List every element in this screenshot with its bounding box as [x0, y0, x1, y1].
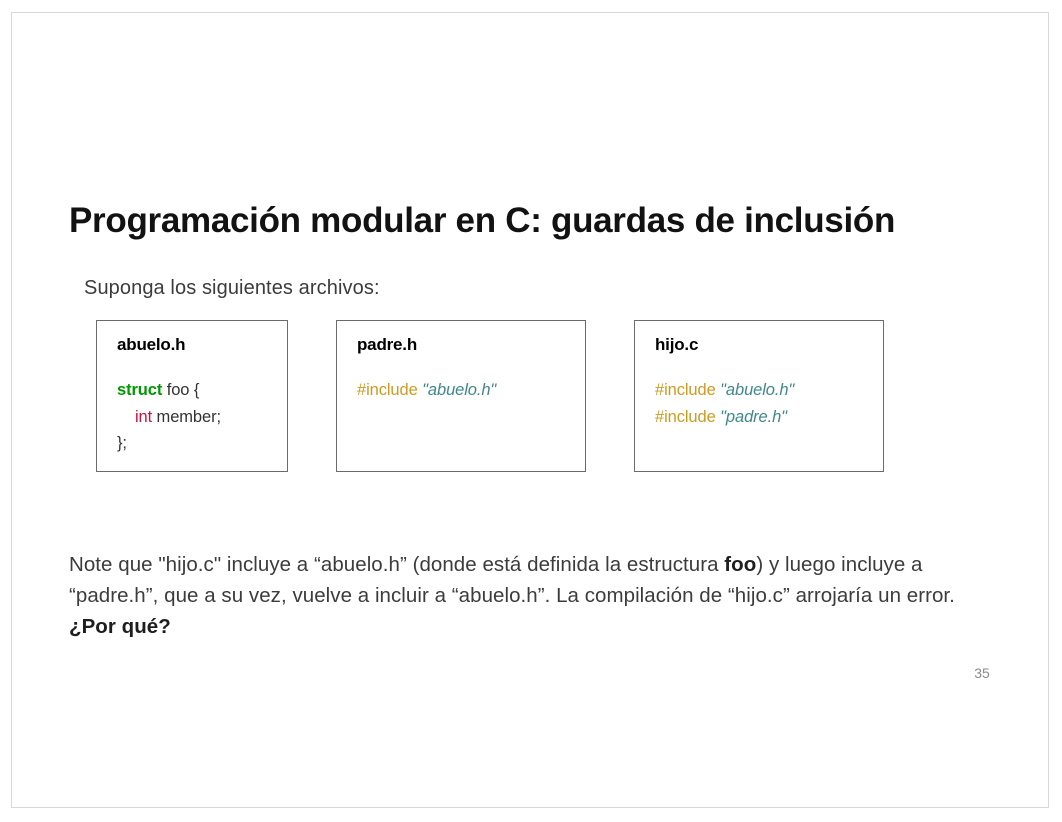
code-box-body: struct foo { int member;};	[117, 377, 287, 457]
code-box-filename: hijo.c	[655, 335, 883, 355]
code-token: #include	[655, 381, 716, 399]
code-token: member;	[152, 408, 221, 426]
page-title: Programación modular en C: guardas de in…	[69, 201, 999, 241]
emphasis-text: foo	[724, 553, 756, 576]
code-box-body: #include "abuelo.h"	[357, 377, 585, 404]
code-box-hijo-c: hijo.c #include "abuelo.h"#include "padr…	[634, 320, 884, 472]
code-line: int member;	[117, 404, 287, 431]
code-token: struct	[117, 381, 162, 399]
code-line: struct foo {	[117, 377, 287, 404]
code-box-body: #include "abuelo.h"#include "padre.h"	[655, 377, 883, 430]
code-token: "abuelo.h"	[422, 381, 496, 399]
code-box-padre-h: padre.h #include "abuelo.h"	[336, 320, 586, 472]
code-token	[117, 408, 135, 426]
code-token: foo {	[162, 381, 199, 399]
page-number: 35	[962, 665, 1002, 681]
paragraph-text: Note que "hijo.c" incluye a “abuelo.h” (…	[69, 553, 724, 576]
code-token: int	[135, 408, 152, 426]
code-line: #include "padre.h"	[655, 404, 883, 431]
code-token: "abuelo.h"	[720, 381, 794, 399]
code-box-filename: abuelo.h	[117, 335, 287, 355]
explanation-paragraph: Note que "hijo.c" incluye a “abuelo.h” (…	[69, 550, 957, 643]
code-line: #include "abuelo.h"	[655, 377, 883, 404]
code-token: #include	[357, 381, 418, 399]
code-token: "padre.h"	[720, 408, 787, 426]
code-box-abuelo-h: abuelo.h struct foo { int member;};	[96, 320, 288, 472]
code-line: };	[117, 430, 287, 457]
code-line: #include "abuelo.h"	[357, 377, 585, 404]
code-box-filename: padre.h	[357, 335, 585, 355]
intro-text: Suponga los siguientes archivos:	[84, 277, 380, 300]
code-token: #include	[655, 408, 716, 426]
slide-frame: Programación modular en C: guardas de in…	[11, 12, 1049, 808]
emphasis-text: ¿Por qué?	[69, 615, 171, 638]
code-token: };	[117, 434, 127, 452]
